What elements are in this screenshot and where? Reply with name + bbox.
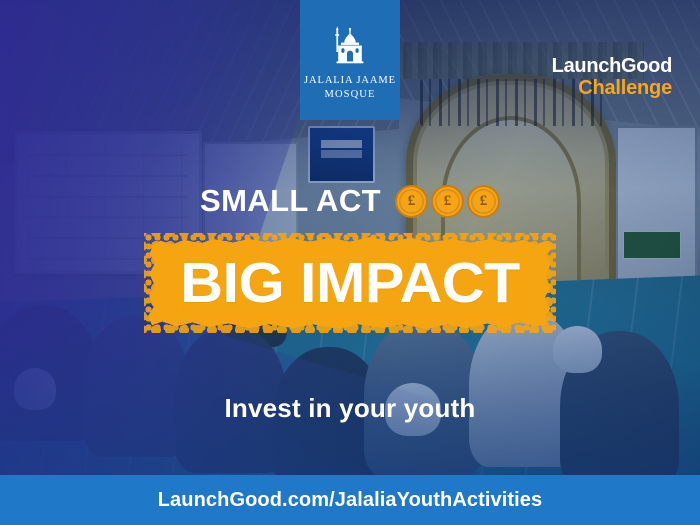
challenge-wordmark: Challenge	[552, 77, 672, 99]
campaign-poster: JALALIA JAAME MOSQUE LaunchGood Challeng…	[0, 0, 700, 525]
small-act-row: SMALL ACT £ £ £	[0, 183, 700, 219]
pound-coins-group: £ £ £	[395, 185, 500, 218]
pound-coin-icon: £	[431, 185, 464, 218]
url-bar[interactable]: LaunchGood.com/JalaliaYouthActivities	[0, 475, 700, 525]
big-impact-text: BIG IMPACT	[140, 237, 560, 329]
pound-coin-icon: £	[467, 185, 500, 218]
mosque-name-line1: JALALIA JAAME	[304, 74, 396, 88]
launchgood-challenge-logo: LaunchGood Challenge	[552, 56, 672, 99]
mosque-name-line2: MOSQUE	[325, 88, 376, 102]
big-impact-banner: BIG IMPACT	[148, 237, 552, 329]
tagline-text: Invest in your youth	[0, 393, 700, 424]
launchgood-wordmark: LaunchGood	[552, 56, 672, 77]
small-act-text: SMALL ACT	[200, 183, 381, 219]
campaign-url[interactable]: LaunchGood.com/JalaliaYouthActivities	[158, 489, 543, 512]
mosque-logo-badge: JALALIA JAAME MOSQUE	[300, 0, 400, 120]
mosque-icon	[325, 24, 375, 68]
pound-coin-icon: £	[395, 185, 428, 218]
